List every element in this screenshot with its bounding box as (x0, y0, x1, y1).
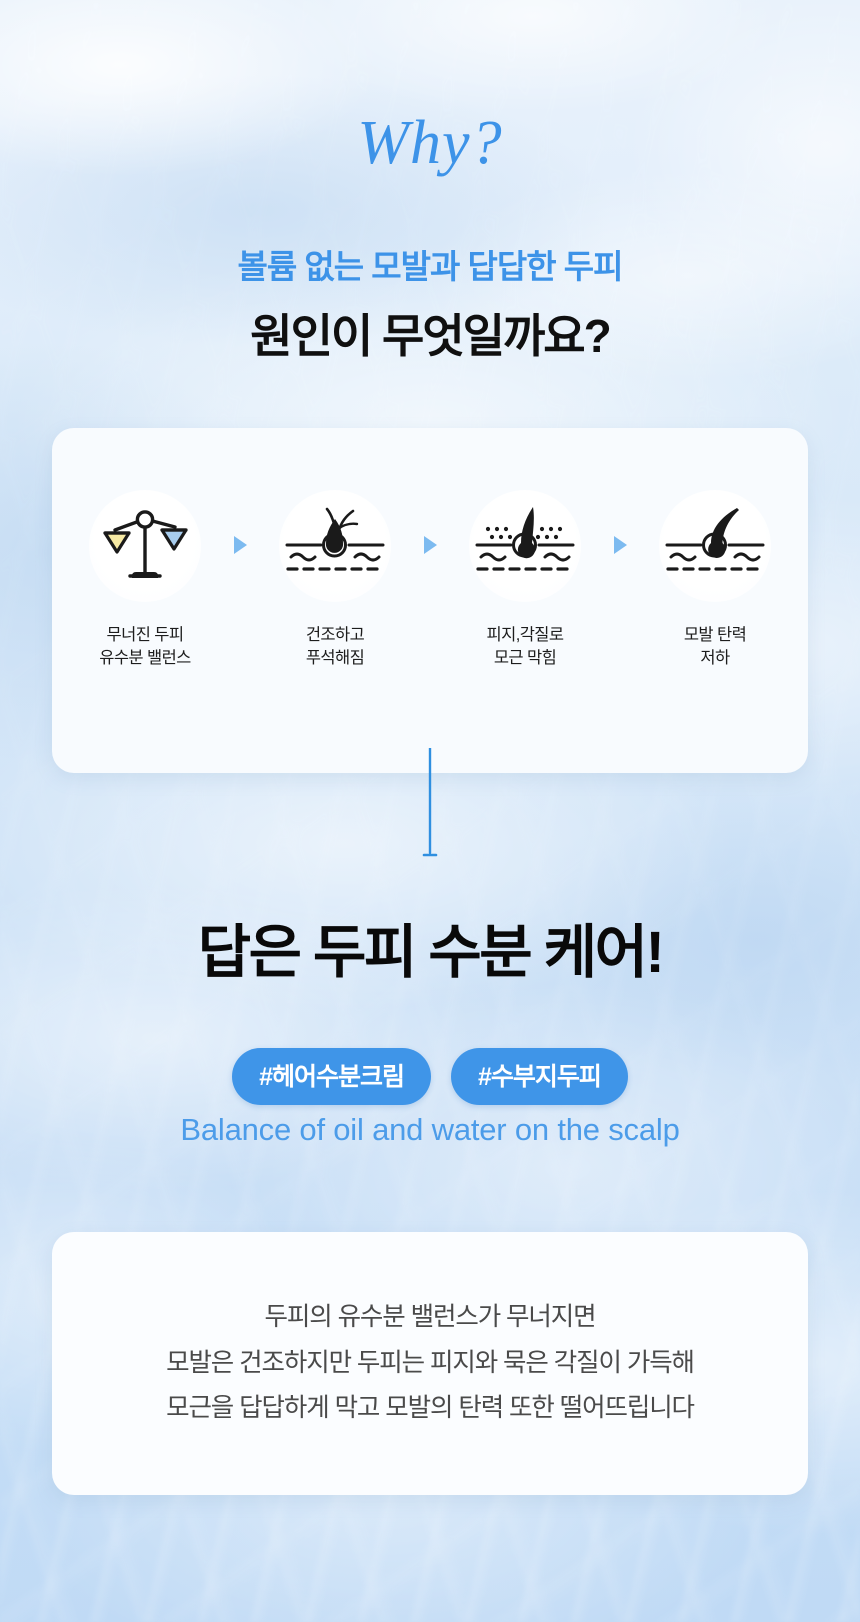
step-label-4: 모발 탄력 저하 (639, 624, 791, 671)
step-arrow-3 (601, 490, 639, 554)
vertical-connector-line-icon (419, 748, 441, 858)
step-label-3-line1: 피지,각질로 (449, 624, 601, 647)
step-label-3: 피지,각질로 모근 막힘 (449, 624, 601, 671)
step-arrow-1 (221, 490, 259, 554)
step-item-1: 무너진 두피 유수분 밸런스 (69, 490, 221, 671)
clogged-follicle-sebum-icon (469, 490, 581, 602)
step-label-1: 무너진 두피 유수분 밸런스 (69, 624, 221, 671)
hashtag-group: #헤어수분크림 #수부지두피 (0, 1048, 860, 1105)
triangle-right-icon (234, 536, 247, 554)
hashtag-pill-2[interactable]: #수부지두피 (451, 1048, 628, 1105)
step-item-2: 건조하고 푸석해짐 (259, 490, 411, 671)
step-label-1-line1: 무너진 두피 (69, 624, 221, 647)
steps-card: 무너진 두피 유수분 밸런스 (52, 428, 808, 773)
step-label-4-line2: 저하 (639, 647, 791, 670)
product-detail-page: Why? 볼륨 없는 모발과 답답한 두피 원인이 무엇일까요? (0, 0, 860, 1622)
hashtag-pill-1[interactable]: #헤어수분크림 (232, 1048, 431, 1105)
description-card: 두피의 유수분 밸런스가 무너지면 모발은 건조하지만 두피는 피지와 묵은 각… (52, 1232, 808, 1495)
step-item-4: 모발 탄력 저하 (639, 490, 791, 671)
subtitle-blue: 볼륨 없는 모발과 답답한 두피 (0, 240, 860, 288)
step-label-3-line2: 모근 막힘 (449, 647, 601, 670)
balance-scale-oil-water-icon (89, 490, 201, 602)
description-line-2: 모발은 건조하지만 두피는 피지와 묵은 각질이 가득해 (166, 1341, 694, 1386)
page-title-why: Why? (0, 108, 860, 179)
english-tagline: Balance of oil and water on the scalp (0, 1112, 860, 1148)
triangle-right-icon (424, 536, 437, 554)
step-item-3: 피지,각질로 모근 막힘 (449, 490, 601, 671)
description-line-1: 두피의 유수분 밸런스가 무너지면 (265, 1295, 596, 1340)
weak-hair-elasticity-icon (659, 490, 771, 602)
step-arrow-2 (411, 490, 449, 554)
step-label-2: 건조하고 푸석해짐 (259, 624, 411, 671)
triangle-right-icon (614, 536, 627, 554)
steps-row: 무너진 두피 유수분 밸런스 (52, 490, 808, 671)
subtitle-question: 원인이 무엇일까요? (0, 300, 860, 366)
step-label-4-line1: 모발 탄력 (639, 624, 791, 647)
step-label-1-line2: 유수분 밸런스 (69, 647, 221, 670)
description-line-3: 모근을 답답하게 막고 모발의 탄력 또한 떨어뜨립니다 (166, 1386, 694, 1431)
step-label-2-line2: 푸석해짐 (259, 647, 411, 670)
dry-hair-follicle-icon (279, 490, 391, 602)
step-label-2-line1: 건조하고 (259, 624, 411, 647)
answer-headline: 답은 두피 수분 케어! (0, 905, 860, 989)
